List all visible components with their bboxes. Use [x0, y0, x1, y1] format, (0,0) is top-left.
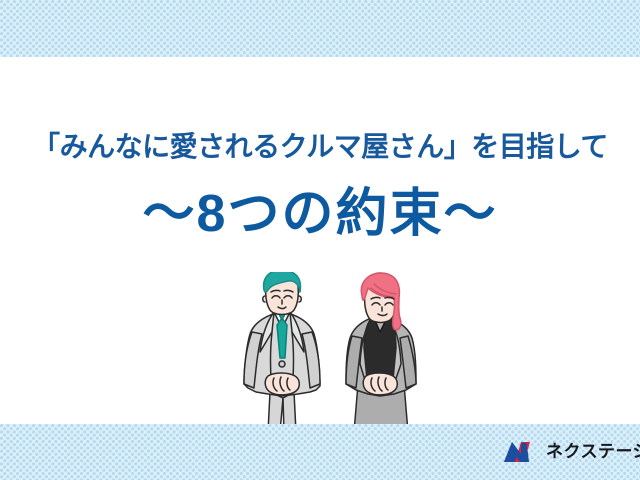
brand-logo: ネクステージ: [503, 437, 625, 467]
two-bowing-staff-illustration: [228, 272, 434, 432]
top-decorative-dot-band: [0, 0, 640, 57]
brand-name: ネクステージ: [546, 440, 640, 464]
male-staff-figure: [244, 272, 320, 432]
page-subtitle: 〜8つの約束〜: [0, 183, 640, 245]
nextage-n-mark-icon: [503, 440, 539, 464]
slide-canvas: 「みんなに愛されるクルマ屋さん」を目指して 〜8つの約束〜: [0, 0, 640, 480]
female-staff-figure: [346, 273, 416, 432]
page-title: 「みんなに愛されるクルマ屋さん」を目指して: [0, 128, 640, 166]
